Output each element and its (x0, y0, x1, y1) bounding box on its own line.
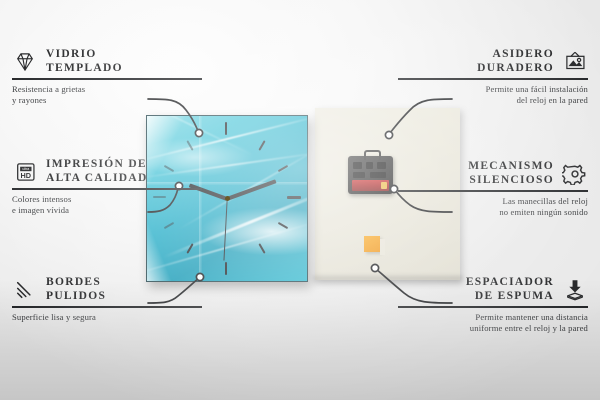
feature-description: Permite una fácil instalación del reloj … (398, 84, 588, 106)
divider (398, 78, 588, 80)
feature-title: MECANISMO SILENCIOSO (468, 160, 554, 187)
feature-description: Superficie lisa y segura (12, 312, 202, 323)
feature-title: ESPACIADOR DE ESPUMA (466, 276, 554, 303)
feature-vidrio-templado: VIDRIO TEMPLADO Resistencia a grietas y … (12, 48, 202, 106)
polished-edges-icon (12, 279, 38, 301)
clock-mechanism (348, 156, 393, 194)
feature-title: ASIDERO DURADERO (477, 48, 554, 75)
feature-description: Permite mantener una distancia uniforme … (398, 312, 588, 334)
foam-spacer-side (380, 239, 385, 255)
mechanism-hanger (364, 150, 381, 160)
press-down-pad-icon (562, 279, 588, 301)
feature-title: BORDES PULIDOS (46, 276, 106, 303)
foam-spacer-pad (364, 236, 380, 252)
feature-bordes-pulidos: BORDES PULIDOS Superficie lisa y segura (12, 276, 202, 323)
feature-description: Las manecillas del reloj no emiten ningú… (398, 196, 588, 218)
divider (398, 306, 588, 308)
svg-text:HD: HD (21, 171, 32, 180)
divider (12, 188, 202, 190)
feature-header: BORDES PULIDOS (12, 276, 202, 303)
divider (12, 78, 202, 80)
divider (12, 306, 202, 308)
feature-impresion-alta-calidad: ultra HD IMPRESIÓN DE ALTA CALIDAD Color… (12, 158, 202, 216)
infographic-canvas: VIDRIO TEMPLADO Resistencia a grietas y … (0, 0, 600, 400)
feature-espaciador-de-espuma: ESPACIADOR DE ESPUMA Permite mantener un… (398, 276, 588, 334)
feature-header: ESPACIADOR DE ESPUMA (398, 276, 588, 303)
feature-header: ASIDERO DURADERO (398, 48, 588, 75)
feature-asidero-duradero: ASIDERO DURADERO Permite una fácil insta… (398, 48, 588, 106)
feature-description: Resistencia a grietas y rayones (12, 84, 202, 106)
battery-terminal (381, 182, 387, 189)
divider (398, 190, 588, 192)
diamond-icon (12, 51, 38, 73)
feature-title: IMPRESIÓN DE ALTA CALIDAD (46, 158, 148, 185)
feature-title: VIDRIO TEMPLADO (46, 48, 123, 75)
clock-hand-hub (225, 196, 230, 201)
gear-icon (562, 163, 588, 185)
feature-header: VIDRIO TEMPLADO (12, 48, 202, 75)
feature-description: Colores intensos e imagen vívida (12, 194, 202, 216)
clock-battery (352, 180, 389, 191)
hanging-frame-icon (562, 51, 588, 73)
feature-mecanismo-silencioso: MECANISMO SILENCIOSO Las manecillas del … (398, 160, 588, 218)
feature-header: MECANISMO SILENCIOSO (398, 160, 588, 187)
ultra-hd-icon: ultra HD (12, 161, 38, 183)
feature-header: ultra HD IMPRESIÓN DE ALTA CALIDAD (12, 158, 202, 185)
